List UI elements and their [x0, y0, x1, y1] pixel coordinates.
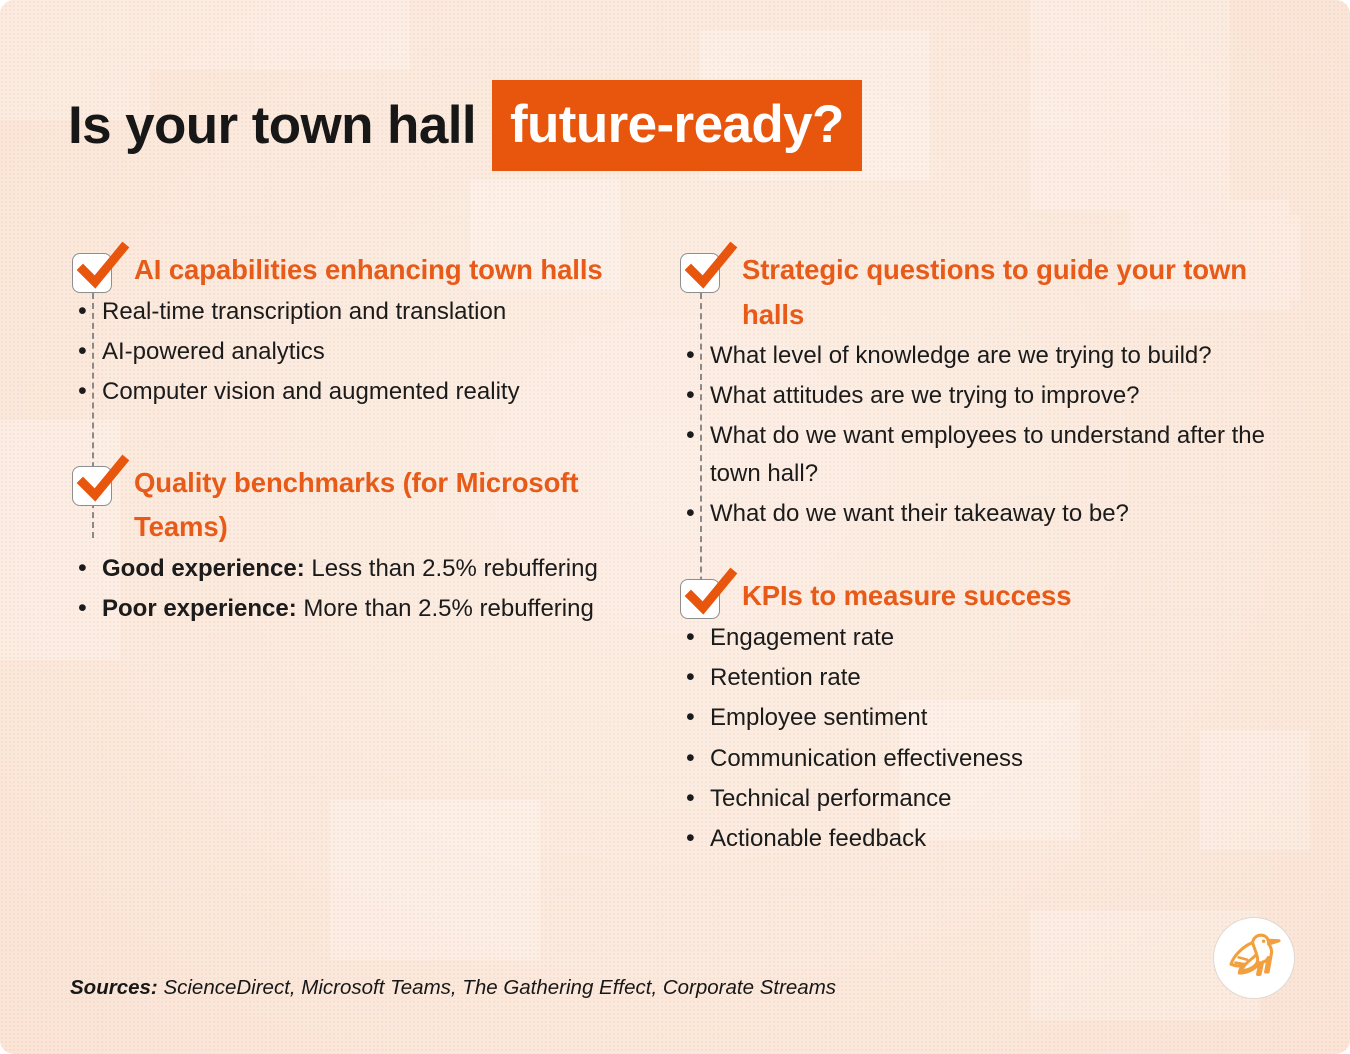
- list-item: Computer vision and augmented reality: [72, 373, 662, 410]
- list-item: Retention rate: [680, 659, 1305, 696]
- section-heading: AI capabilities enhancing town halls: [134, 248, 603, 293]
- sources-text: ScienceDirect, Microsoft Teams, The Gath…: [163, 976, 836, 999]
- checkbox-checked-icon[interactable]: [680, 579, 720, 619]
- bullet-list: Good experience: Less than 2.5% rebuffer…: [72, 550, 662, 627]
- list-item: Communication effectiveness: [680, 740, 1305, 777]
- list-item-text: Actionable feedback: [710, 825, 926, 852]
- list-item-text: Less than 2.5% rebuffering: [311, 555, 597, 582]
- list-item-label: Good experience:: [102, 555, 305, 582]
- list-item-text: What attitudes are we trying to improve?: [710, 382, 1140, 409]
- list-item: Poor experience: More than 2.5% rebuffer…: [72, 590, 662, 627]
- left-column: AI capabilities enhancing town halls Rea…: [72, 248, 662, 630]
- infographic-canvas: Is your town hall future-ready? AI capab…: [0, 0, 1350, 1054]
- list-item: What do we want employees to understand …: [680, 417, 1305, 491]
- bullet-list: Engagement rate Retention rate Employee …: [680, 619, 1305, 857]
- checkbox-checked-icon[interactable]: [680, 253, 720, 293]
- list-item-label: Poor experience:: [102, 595, 297, 622]
- brand-logo: [1213, 917, 1295, 999]
- list-item-text: Retention rate: [710, 664, 861, 691]
- bullet-list: What level of knowledge are we trying to…: [680, 337, 1305, 532]
- section-header: AI capabilities enhancing town halls: [72, 248, 662, 293]
- sources-line: Sources: ScienceDirect, Microsoft Teams,…: [70, 976, 836, 1000]
- list-item: What level of knowledge are we trying to…: [680, 337, 1305, 374]
- bird-icon: [1224, 928, 1284, 988]
- page-title: Is your town hall future-ready?: [68, 80, 862, 171]
- list-item-text: What do we want employees to understand …: [710, 422, 1265, 486]
- list-item: AI-powered analytics: [72, 333, 662, 370]
- list-item: Actionable feedback: [680, 820, 1305, 857]
- list-item-text: Real-time transcription and translation: [102, 298, 506, 325]
- bullet-list: Real-time transcription and translation …: [72, 293, 662, 411]
- list-item-text: Technical performance: [710, 785, 951, 812]
- section-quality-benchmarks: Quality benchmarks (for Microsoft Teams)…: [72, 461, 662, 627]
- list-item-text: Computer vision and augmented reality: [102, 378, 520, 405]
- list-item-text: Employee sentiment: [710, 704, 927, 731]
- section-kpis: KPIs to measure success Engagement rate …: [680, 574, 1305, 857]
- section-heading: Strategic questions to guide your town h…: [742, 248, 1262, 337]
- list-item-text: AI-powered analytics: [102, 338, 325, 365]
- section-strategic-questions: Strategic questions to guide your town h…: [680, 248, 1305, 532]
- list-item: Engagement rate: [680, 619, 1305, 656]
- checkbox-checked-icon[interactable]: [72, 466, 112, 506]
- section-header: Quality benchmarks (for Microsoft Teams): [72, 461, 662, 550]
- list-item: Good experience: Less than 2.5% rebuffer…: [72, 550, 662, 587]
- sources-label: Sources:: [70, 976, 158, 999]
- list-item-text: Communication effectiveness: [710, 745, 1023, 772]
- title-plain-text: Is your town hall: [68, 99, 476, 152]
- list-item-text: Engagement rate: [710, 624, 894, 651]
- section-header: KPIs to measure success: [680, 574, 1305, 619]
- list-item: What do we want their takeaway to be?: [680, 495, 1305, 532]
- list-item: Employee sentiment: [680, 699, 1305, 736]
- section-header: Strategic questions to guide your town h…: [680, 248, 1305, 337]
- list-item: Real-time transcription and translation: [72, 293, 662, 330]
- list-item-text: More than 2.5% rebuffering: [303, 595, 593, 622]
- list-item-text: What level of knowledge are we trying to…: [710, 342, 1212, 369]
- title-highlight-text: future-ready?: [492, 80, 862, 171]
- list-item-text: What do we want their takeaway to be?: [710, 500, 1129, 527]
- checkbox-checked-icon[interactable]: [72, 253, 112, 293]
- list-item: What attitudes are we trying to improve?: [680, 377, 1305, 414]
- section-heading: KPIs to measure success: [742, 574, 1071, 619]
- section-heading: Quality benchmarks (for Microsoft Teams): [134, 461, 614, 550]
- list-item: Technical performance: [680, 780, 1305, 817]
- section-ai-capabilities: AI capabilities enhancing town halls Rea…: [72, 248, 662, 411]
- right-column: Strategic questions to guide your town h…: [680, 248, 1305, 860]
